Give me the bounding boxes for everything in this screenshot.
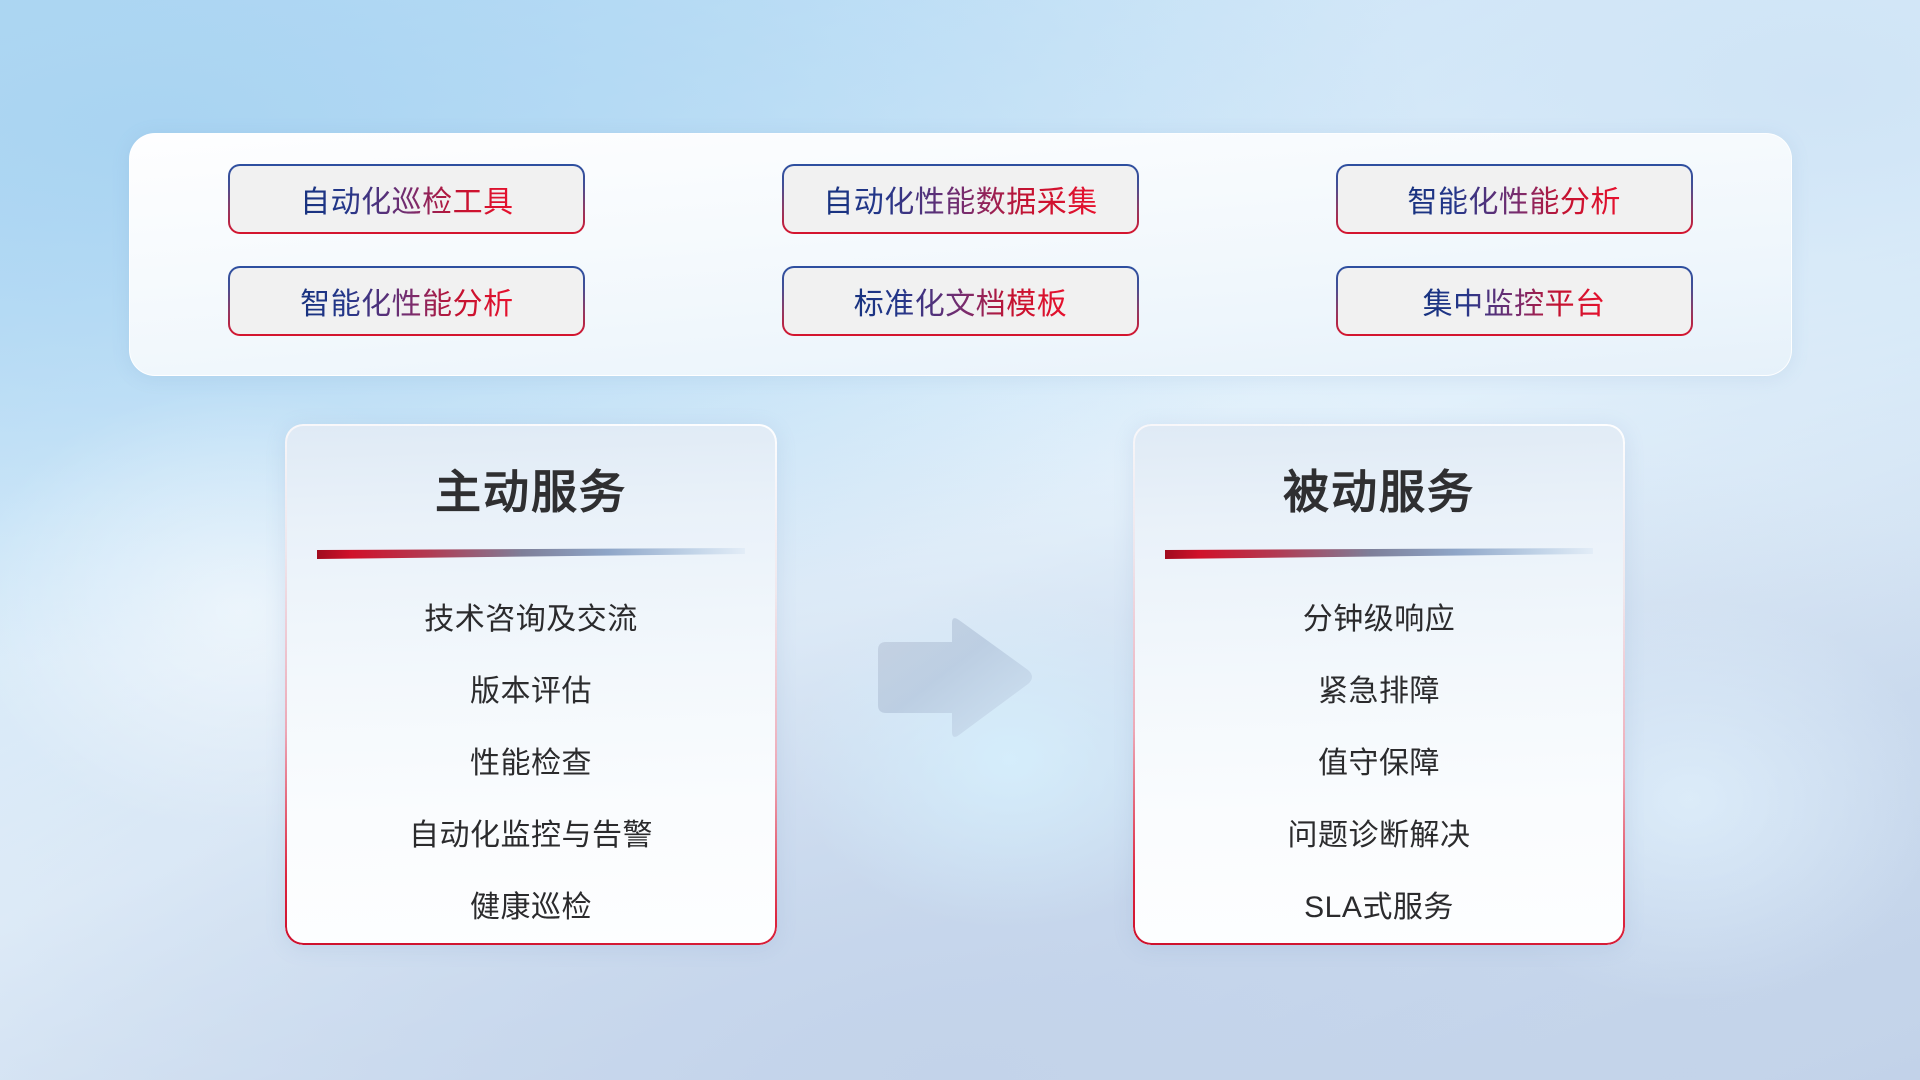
arrow-right-icon: [868, 614, 1038, 742]
capability-pill-label: 智能化性能分析: [1407, 177, 1621, 221]
list-item: 版本评估: [470, 671, 592, 713]
capability-pill-intelligent-performance-analysis[interactable]: 智能化性能分析: [1336, 164, 1693, 234]
capability-pill-standardized-document-template[interactable]: 标准化文档模板: [782, 266, 1139, 336]
list-item: 健康巡检: [470, 887, 592, 929]
list-item: 技术咨询及交流: [424, 599, 638, 641]
capabilities-panel: 自动化巡检工具 自动化性能数据采集 智能化性能分析 智能化性能分析 标准化文档模…: [129, 133, 1792, 376]
capability-pill-label: 集中监控平台: [1423, 279, 1606, 323]
card-list-reactive: 分钟级响应 紧急排障 值守保障 问题诊断解决 SLA式服务: [1133, 599, 1625, 929]
list-item: 自动化监控与告警: [409, 815, 653, 857]
capabilities-row-2: 智能化性能分析 标准化文档模板 集中监控平台: [130, 266, 1791, 336]
list-item: 分钟级响应: [1303, 599, 1456, 641]
list-item: 问题诊断解决: [1288, 815, 1471, 857]
capability-pill-label: 自动化巡检工具: [300, 177, 514, 221]
list-item: 性能检查: [470, 743, 592, 785]
capability-pill-intelligent-performance-analysis-2[interactable]: 智能化性能分析: [228, 266, 585, 336]
capability-pill-label: 标准化文档模板: [854, 279, 1068, 323]
capability-pill-centralized-monitoring-platform[interactable]: 集中监控平台: [1336, 266, 1693, 336]
card-divider-reactive: [1165, 548, 1593, 559]
capability-pill-automated-performance-data-collection[interactable]: 自动化性能数据采集: [782, 164, 1139, 234]
capability-pill-label: 智能化性能分析: [300, 279, 514, 323]
card-title-proactive: 主动服务: [285, 456, 777, 522]
card-divider-proactive: [317, 548, 745, 559]
capabilities-row-1: 自动化巡检工具 自动化性能数据采集 智能化性能分析: [130, 164, 1791, 234]
card-title-reactive: 被动服务: [1133, 456, 1625, 522]
capability-pill-label: 自动化性能数据采集: [823, 177, 1098, 221]
service-card-proactive: 主动服务 技术咨询及交流 版本评估 性能检查 自动化监控与告警 健康巡检: [285, 424, 777, 945]
list-item: 紧急排障: [1318, 671, 1440, 713]
service-card-reactive: 被动服务 分钟级响应 紧急排障 值守保障 问题诊断解决 SLA式服务: [1133, 424, 1625, 945]
list-item: SLA式服务: [1304, 887, 1454, 929]
list-item: 值守保障: [1318, 743, 1440, 785]
capability-pill-automated-inspection-tool[interactable]: 自动化巡检工具: [228, 164, 585, 234]
card-list-proactive: 技术咨询及交流 版本评估 性能检查 自动化监控与告警 健康巡检: [285, 599, 777, 929]
